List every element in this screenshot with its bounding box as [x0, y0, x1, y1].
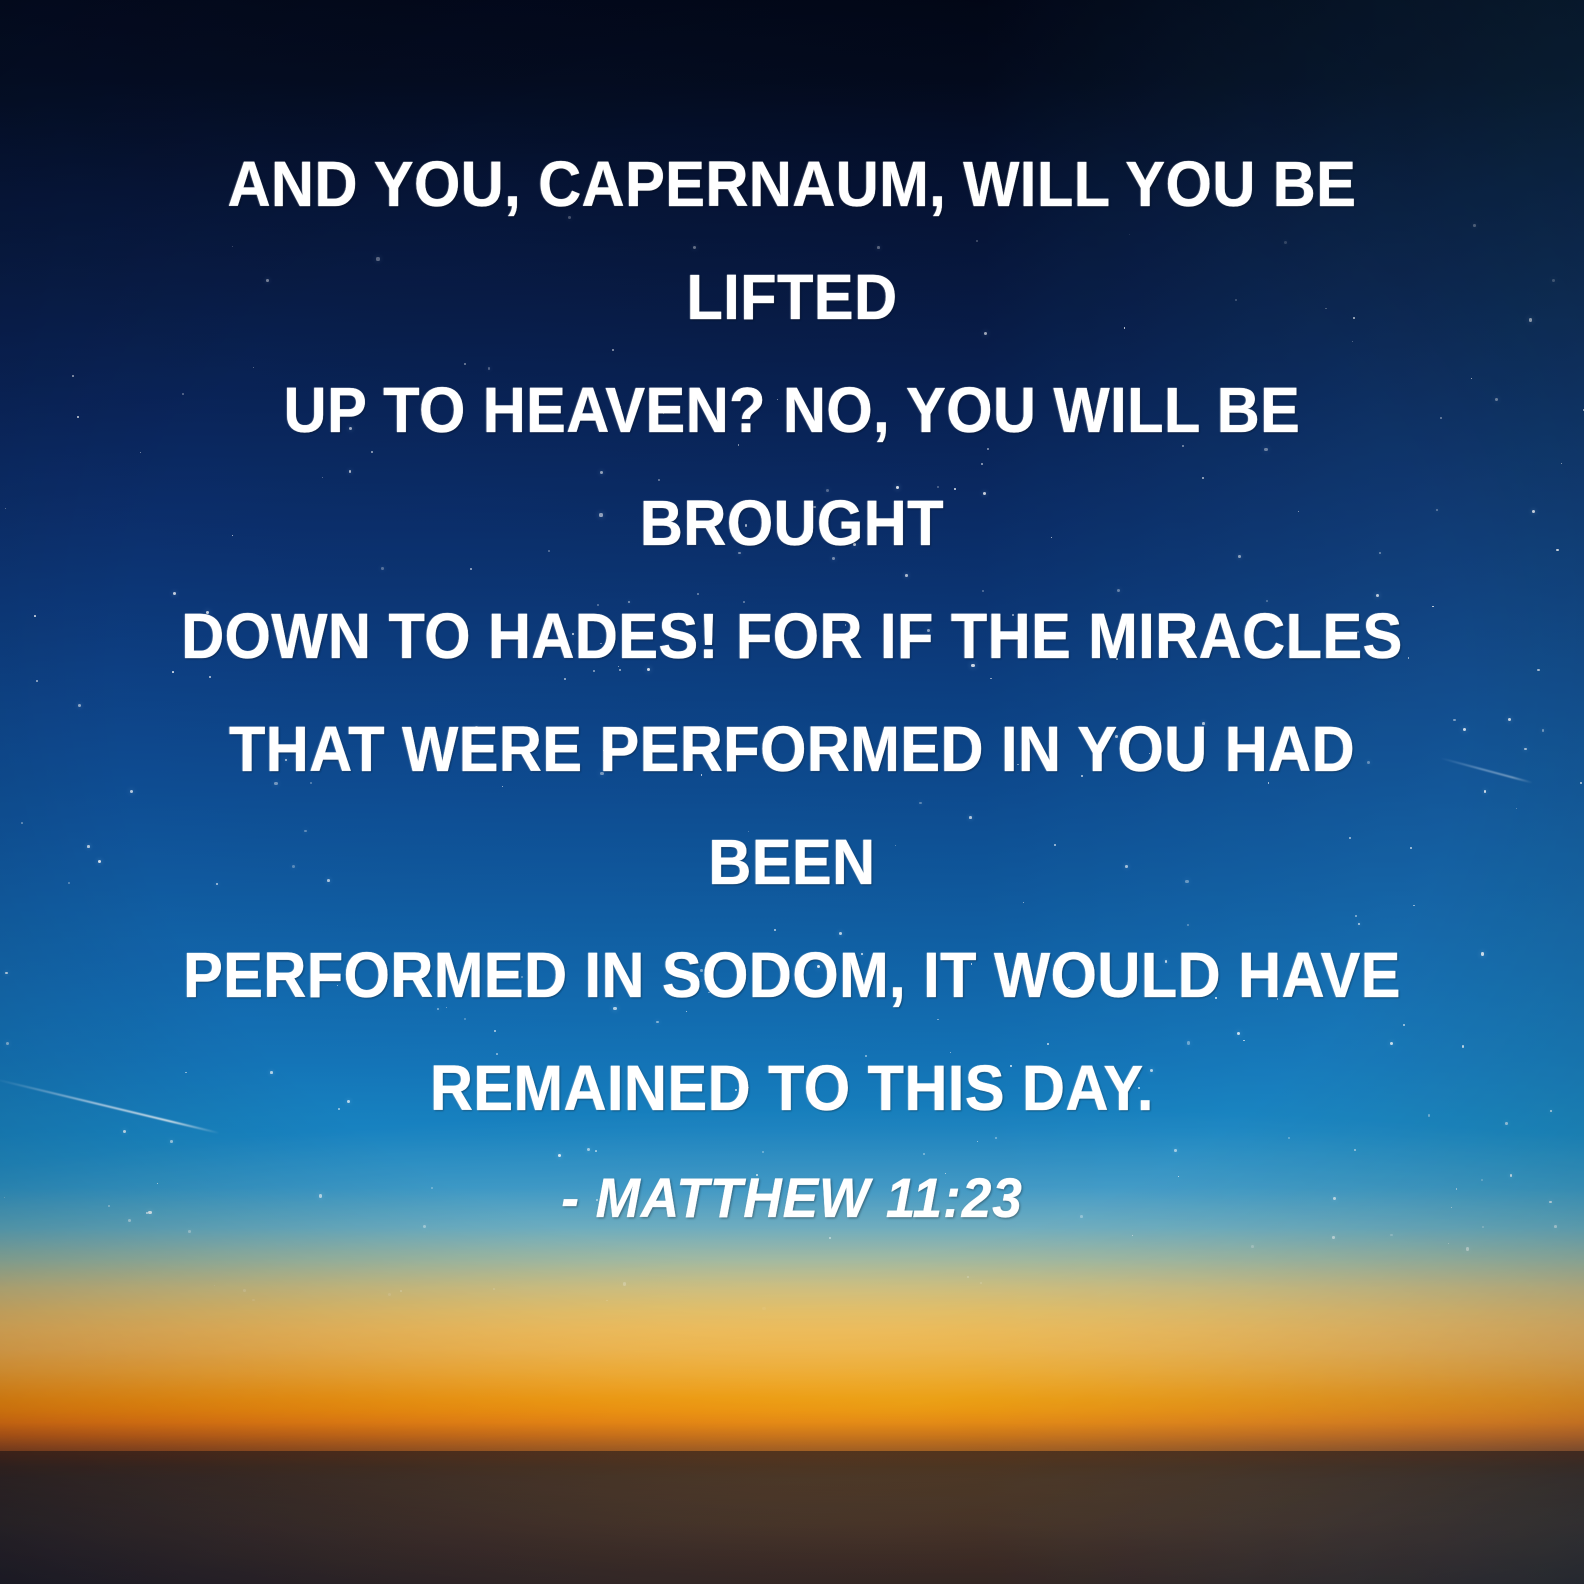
verse-line: UP TO HEAVEN? NO, YOU WILL BE BROUGHT	[284, 374, 1301, 559]
star	[1448, 1243, 1449, 1244]
star	[1332, 1236, 1335, 1239]
star	[400, 1290, 402, 1292]
verse-text-block: AND YOU, CAPERNAUM, WILL YOU BE LIFTEDUP…	[0, 128, 1584, 1229]
verse-reference-text: - Matthew 11:23	[131, 1167, 1453, 1229]
verse-line: DOWN TO HADES! FOR IF THE MIRACLES	[181, 600, 1403, 672]
star	[214, 1285, 215, 1286]
star	[252, 1299, 255, 1302]
star	[188, 1230, 191, 1233]
star	[493, 1288, 495, 1290]
star	[967, 1276, 969, 1278]
verse-line: AND YOU, CAPERNAUM, WILL YOU BE LIFTED	[228, 148, 1357, 333]
star	[243, 1289, 246, 1292]
star	[1132, 1235, 1133, 1236]
star	[980, 1282, 982, 1284]
foreground-land	[0, 1451, 1584, 1584]
star	[388, 1293, 391, 1296]
verse-image-card: AND YOU, CAPERNAUM, WILL YOU BE LIFTEDUP…	[0, 0, 1584, 1584]
verse-line: THAT WERE PERFORMED IN YOU HAD BEEN	[229, 713, 1355, 898]
star	[1390, 1234, 1393, 1237]
verse-line: REMAINED TO THIS DAY.	[430, 1052, 1154, 1124]
star	[623, 1282, 626, 1285]
star	[1251, 1245, 1254, 1248]
verse-body-text: AND YOU, CAPERNAUM, WILL YOU BE LIFTEDUP…	[145, 128, 1440, 1145]
star	[606, 1300, 607, 1301]
star	[1466, 1247, 1469, 1250]
star	[762, 1307, 765, 1310]
verse-line: PERFORMED IN SODOM, IT WOULD HAVE	[183, 939, 1401, 1011]
star	[829, 1237, 830, 1238]
